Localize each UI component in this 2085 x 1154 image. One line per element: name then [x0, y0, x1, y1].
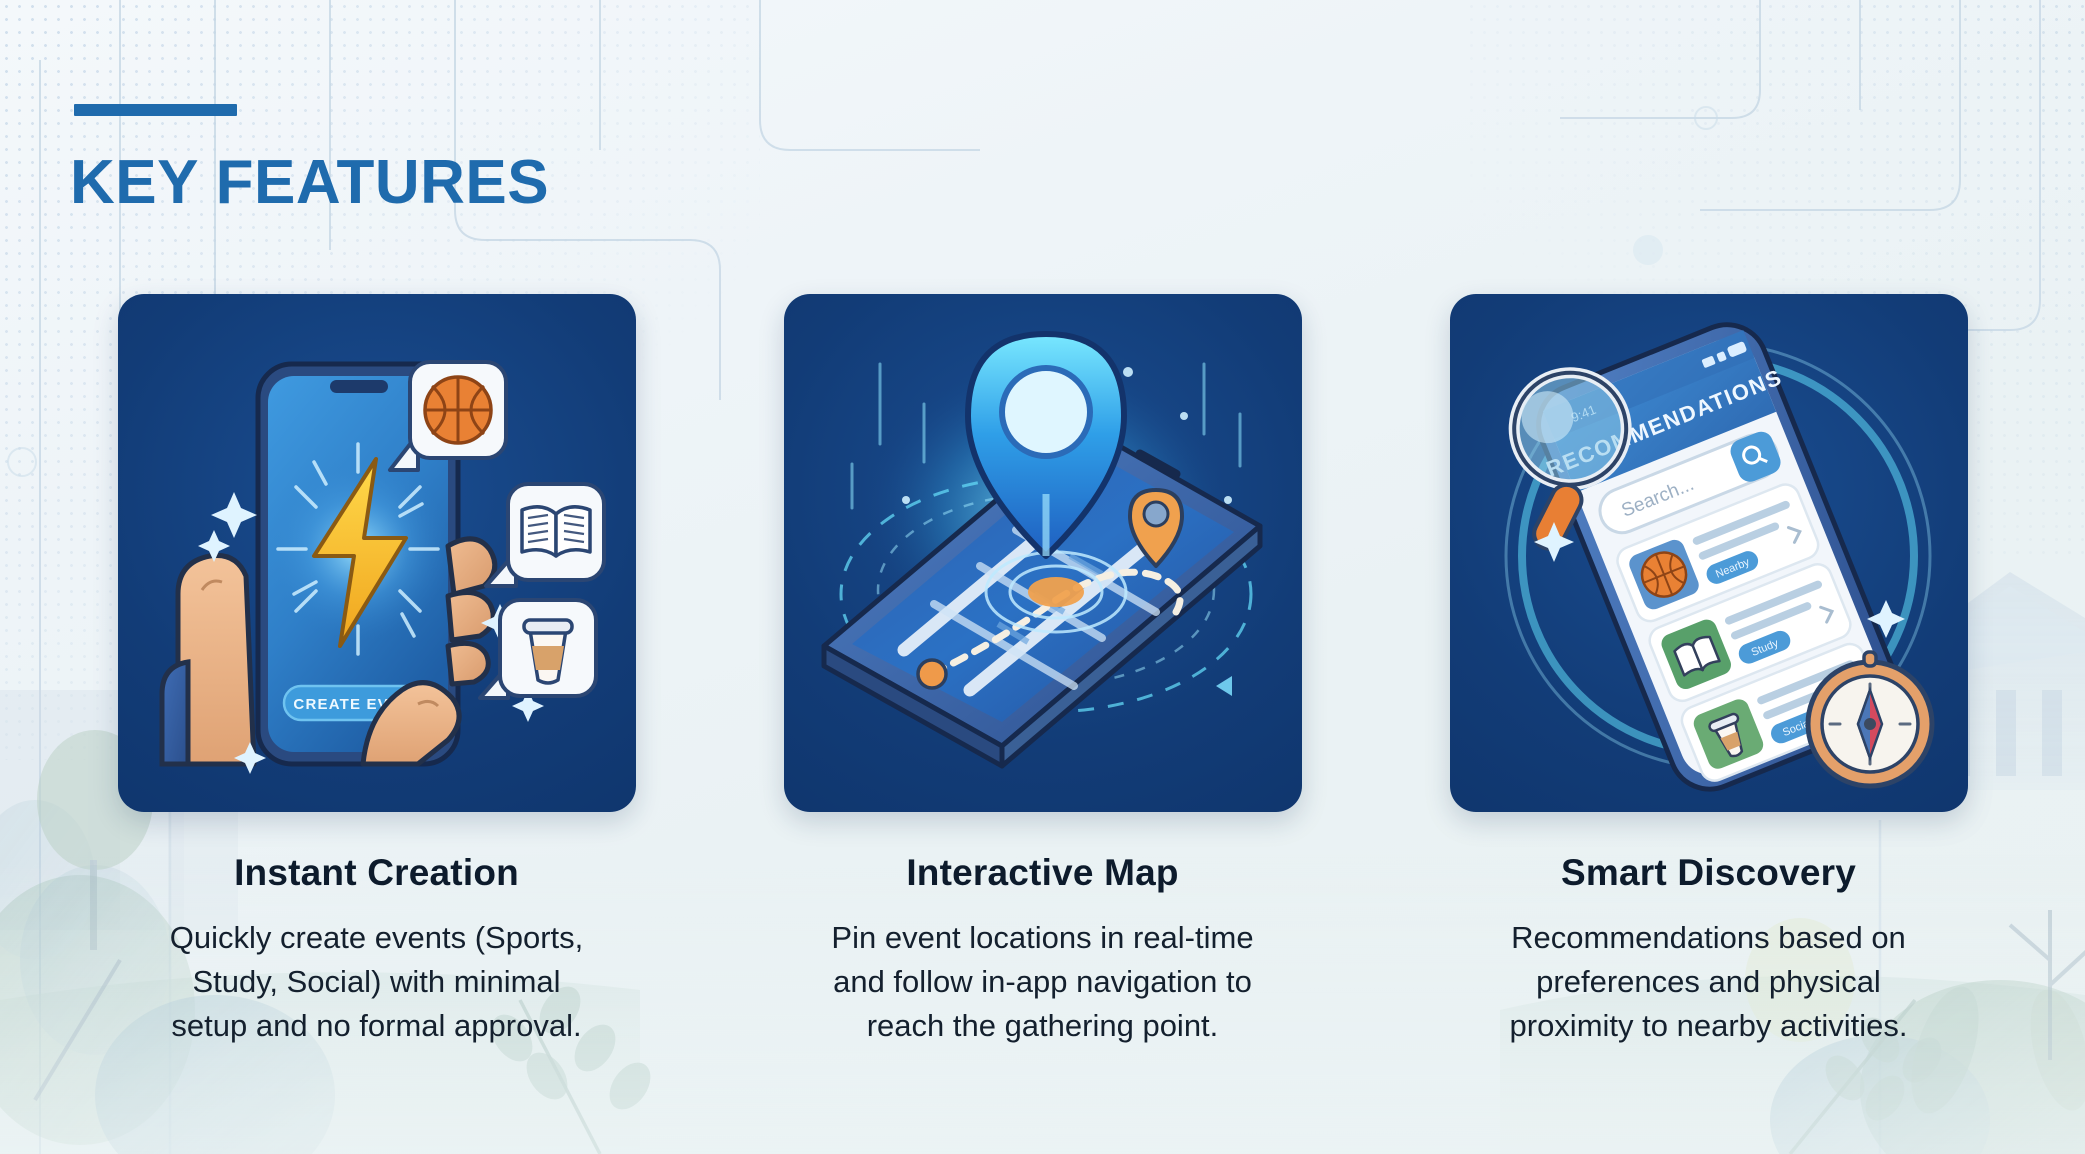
- card-desc-line: reach the gathering point.: [788, 1004, 1298, 1048]
- feature-card-interactive-map[interactable]: Interactive Map Pin event locations in r…: [784, 294, 1302, 1048]
- page-title: KEY FEATURES: [70, 152, 549, 214]
- feature-card-smart-discovery[interactable]: RECOMMENDATIONS 9:41 Search...: [1450, 294, 1968, 1048]
- card-title: Interactive Map: [784, 852, 1302, 894]
- card-desc-line: preferences and physical: [1454, 960, 1964, 1004]
- card-desc-line: Pin event locations in real-time: [788, 916, 1298, 960]
- title-accent-bar: [74, 104, 237, 116]
- card-title: Instant Creation: [118, 852, 636, 894]
- card-description: Quickly create events (Sports, Study, So…: [118, 916, 636, 1048]
- card-desc-line: Study, Social) with minimal: [122, 960, 632, 1004]
- card-description: Pin event locations in real-time and fol…: [784, 916, 1302, 1048]
- card-art-phone-lightning: CREATE EVENT: [118, 294, 636, 812]
- card-desc-line: Quickly create events (Sports,: [122, 916, 632, 960]
- card-art-recommendations-phone: RECOMMENDATIONS 9:41 Search...: [1450, 294, 1968, 812]
- card-desc-line: proximity to nearby activities.: [1454, 1004, 1964, 1048]
- card-description: Recommendations based on preferences and…: [1450, 916, 1968, 1048]
- feature-card-instant-creation[interactable]: CREATE EVENT: [118, 294, 636, 1048]
- slide-canvas: KEY FEATURES: [0, 0, 2085, 1154]
- card-title: Smart Discovery: [1450, 852, 1968, 894]
- card-desc-line: setup and no formal approval.: [122, 1004, 632, 1048]
- card-desc-line: Recommendations based on: [1454, 916, 1964, 960]
- card-desc-line: and follow in-app navigation to: [788, 960, 1298, 1004]
- feature-cards-row: CREATE EVENT: [0, 294, 2085, 1048]
- card-art-isometric-map-phone: [784, 294, 1302, 812]
